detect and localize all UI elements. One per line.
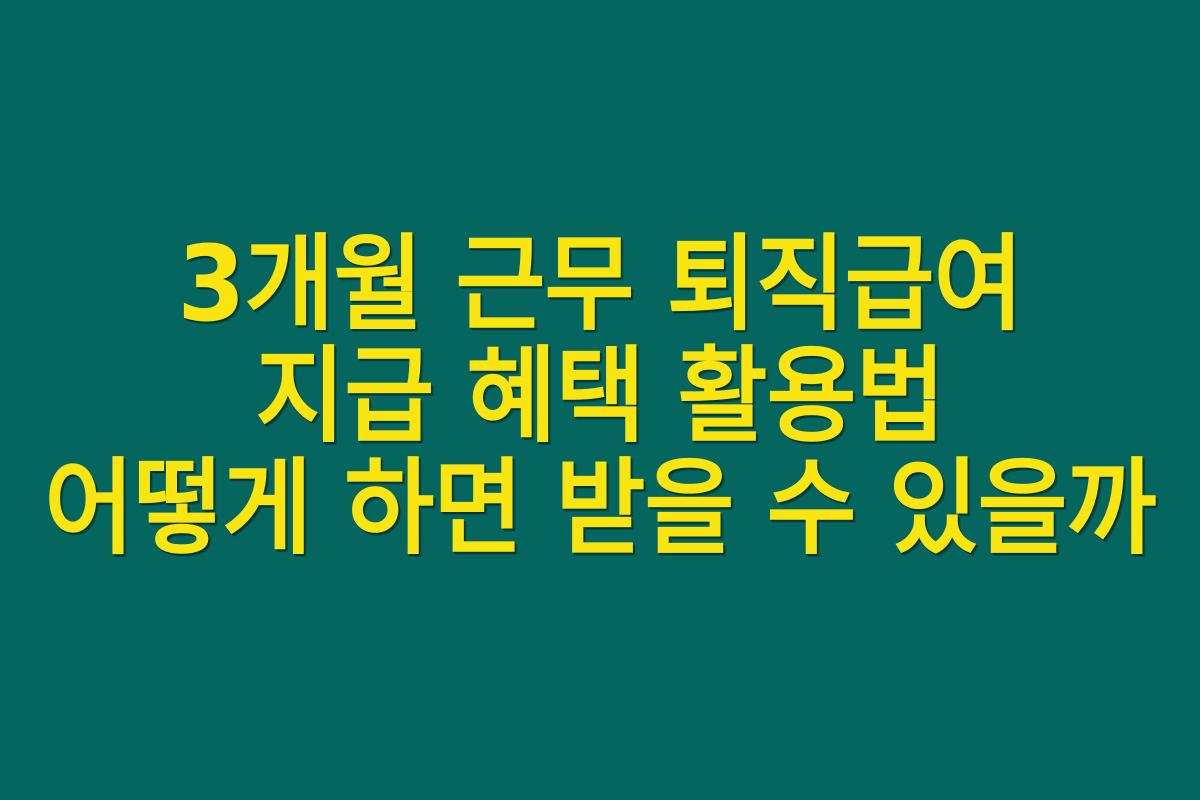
headline-line-3: 어떻게 하면 받을 수 있을까 xyxy=(36,452,1164,564)
headline-line-2: 지급 혜택 활용법 xyxy=(36,340,1164,452)
headline-line-1: 3개월 근무 퇴직급여 xyxy=(36,228,1164,340)
banner-canvas: 3개월 근무 퇴직급여 지급 혜택 활용법 어떻게 하면 받을 수 있을까 xyxy=(0,0,1200,800)
headline-block: 3개월 근무 퇴직급여 지급 혜택 활용법 어떻게 하면 받을 수 있을까 xyxy=(0,228,1200,564)
